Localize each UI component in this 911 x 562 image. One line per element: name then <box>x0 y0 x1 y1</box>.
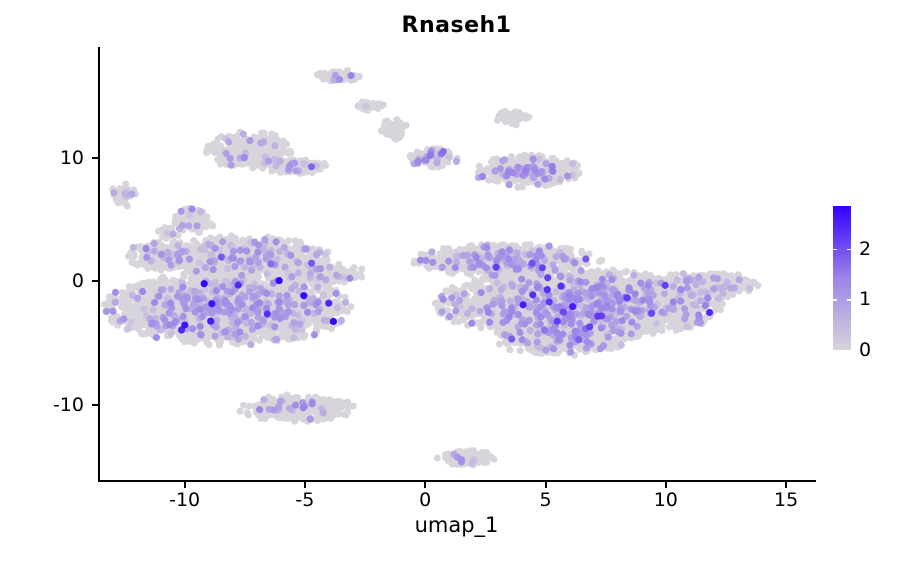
colorbar-tick-mark <box>847 299 851 301</box>
y-tick-mark <box>92 280 98 282</box>
page-title: Rnaseh1 <box>98 13 815 38</box>
x-tick-mark <box>785 482 787 488</box>
y-tick-label: 10 <box>0 147 84 169</box>
y-tick-label: 0 <box>0 270 84 292</box>
x-tick-label: 15 <box>774 489 798 511</box>
x-axis-label: umap_1 <box>98 513 815 537</box>
colorbar[interactable] <box>833 206 851 350</box>
x-axis-spine <box>98 480 816 482</box>
y-tick-mark <box>92 404 98 406</box>
x-tick-mark <box>665 482 667 488</box>
x-tick-mark <box>304 482 306 488</box>
umap-feature-plot-figure: Rnaseh1 -10-5051015 -10010 umap_1 umap_2… <box>0 0 911 562</box>
colorbar-tick-label: 2 <box>859 238 871 260</box>
x-tick-mark <box>184 482 186 488</box>
x-tick-label: -10 <box>169 489 200 511</box>
y-tick-mark <box>92 157 98 159</box>
colorbar-gradient <box>833 206 851 350</box>
x-tick-label: 5 <box>539 489 551 511</box>
colorbar-tick-label: 1 <box>859 288 871 310</box>
y-tick-label: -10 <box>0 394 84 416</box>
scatter-points-canvas[interactable] <box>98 48 815 481</box>
x-tick-label: -5 <box>295 489 314 511</box>
x-tick-label: 10 <box>654 489 678 511</box>
x-tick-mark <box>424 482 426 488</box>
plot-area[interactable] <box>98 48 815 481</box>
colorbar-tick-label: 0 <box>859 339 871 361</box>
colorbar-tick-mark <box>847 249 851 251</box>
y-axis-spine <box>98 47 100 482</box>
x-tick-mark <box>545 482 547 488</box>
colorbar-tick-mark <box>833 249 837 251</box>
x-tick-label: 0 <box>419 489 431 511</box>
colorbar-tick-mark <box>833 299 837 301</box>
